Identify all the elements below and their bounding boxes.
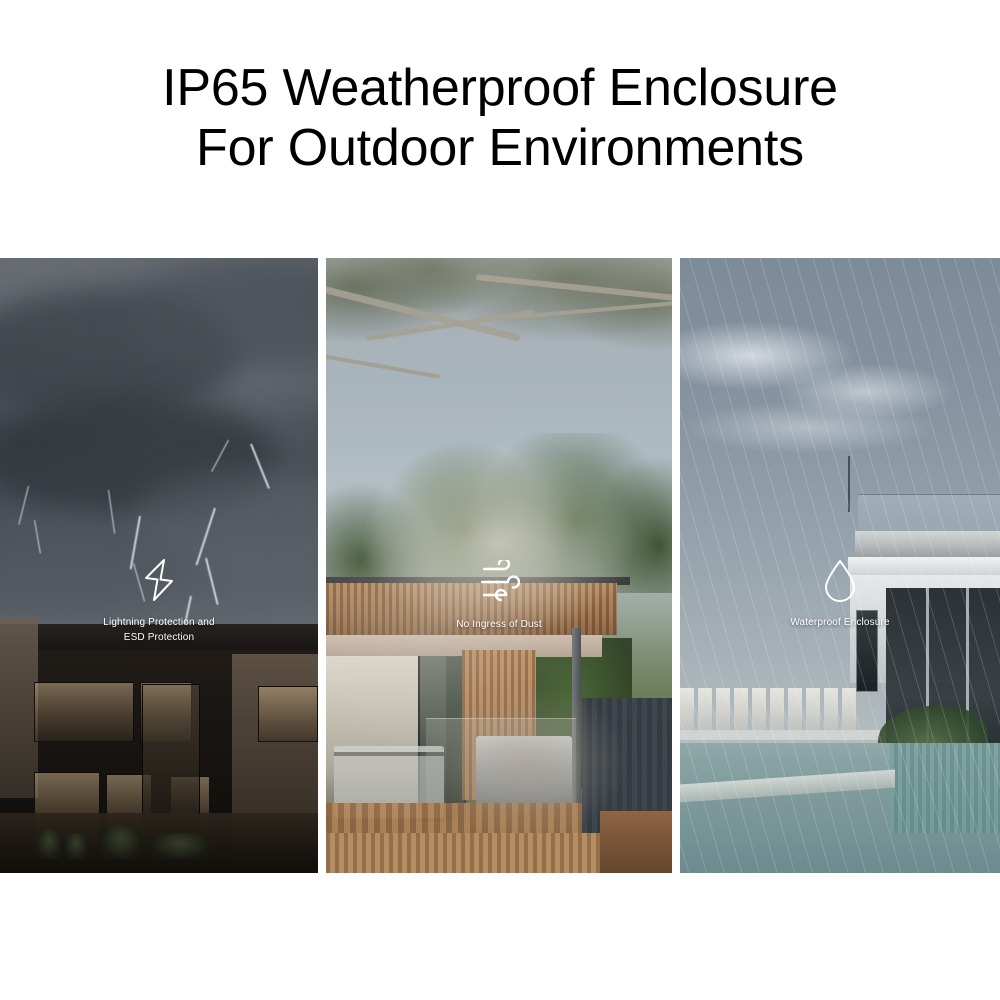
feature-panel-band: Lightning Protection and ESD Protection — [0, 258, 1000, 873]
cloud-wisps — [680, 298, 1000, 478]
rain-rooftop-scene-image — [680, 258, 1000, 873]
page-title: IP65 Weatherproof Enclosure For Outdoor … — [0, 0, 1000, 179]
timber-deck — [326, 803, 582, 833]
feature-panel-dust[interactable]: No Ingress of Dust — [326, 258, 672, 873]
city-skyline — [680, 688, 860, 730]
brick-wall-left — [0, 618, 38, 798]
panel-divider — [318, 258, 326, 873]
feature-panel-lightning[interactable]: Lightning Protection and ESD Protection — [0, 258, 318, 873]
storm-scene-image — [0, 258, 318, 873]
deck-balustrade — [326, 833, 620, 873]
building-window — [258, 686, 318, 742]
shrub — [100, 825, 142, 859]
timber-house-scene-image — [326, 258, 672, 873]
storm-sky — [0, 258, 318, 639]
page-title-line-1: IP65 Weatherproof Enclosure — [0, 58, 1000, 118]
building-parapet — [0, 624, 318, 650]
dark-building — [0, 624, 318, 873]
glass-railing — [858, 494, 1000, 534]
villa-roof-slab — [855, 531, 1000, 557]
timber-planter-box — [600, 811, 672, 873]
shrub — [150, 833, 210, 859]
atmospheric-haze — [326, 258, 672, 458]
page-title-line-2: For Outdoor Environments — [0, 118, 1000, 178]
feature-panel-waterproof[interactable]: Waterproof Enclosure — [680, 258, 1000, 873]
pool-mosaic — [890, 743, 1000, 833]
villa-cornice — [848, 557, 1000, 575]
planter-pot — [36, 829, 62, 859]
roof-railing-post — [848, 456, 850, 512]
building-window — [34, 682, 134, 742]
terrace-parapet — [680, 730, 880, 740]
planter-pot — [64, 833, 88, 859]
panel-divider — [672, 258, 680, 873]
villa-side-window — [856, 610, 878, 692]
